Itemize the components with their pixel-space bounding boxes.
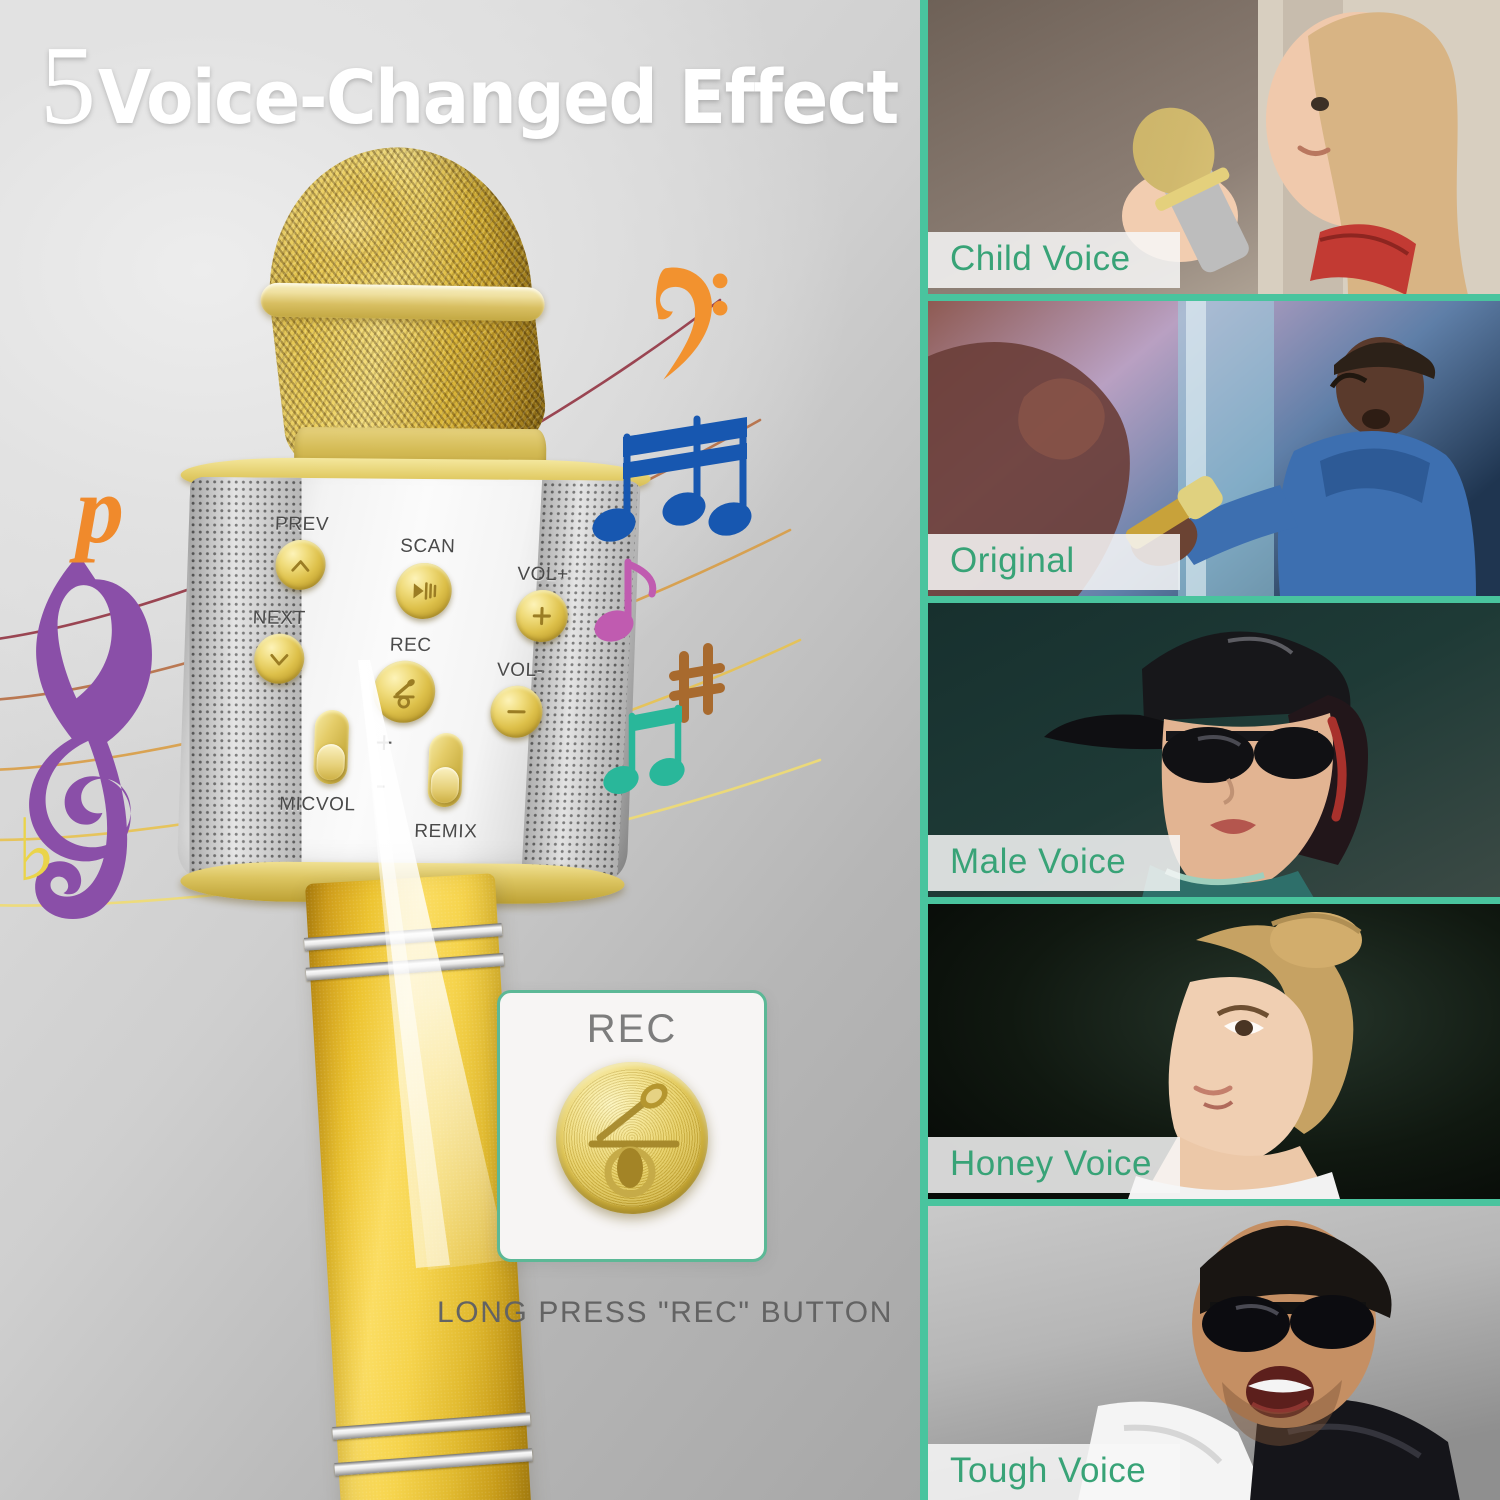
volume-down-button[interactable]	[490, 686, 544, 738]
hero-panel: 5 Voice-Changed Effect p ♭	[0, 0, 920, 1500]
record-button[interactable]	[372, 661, 436, 724]
next-track-button[interactable]	[253, 633, 305, 683]
remix-slider-switch[interactable]	[427, 733, 464, 807]
record-icon	[387, 675, 422, 709]
volume-up-icon	[528, 603, 555, 629]
voice-effect-label: Tough Voice	[928, 1444, 1180, 1500]
control-label-vol-up: VOL+	[517, 564, 569, 586]
micvol-slider-switch[interactable]	[313, 710, 350, 784]
flat-icon: ♭	[16, 801, 57, 901]
scan-button[interactable]	[395, 563, 453, 619]
control-label-remix: REMIX	[414, 821, 478, 844]
voice-effect-label: Child Voice	[928, 232, 1180, 288]
voice-effect-cell[interactable]: Male Voice	[928, 603, 1500, 897]
volume-up-button[interactable]	[515, 590, 569, 642]
voice-effect-label: Male Voice	[928, 835, 1180, 891]
body-shell: PREV SCAN	[177, 477, 641, 881]
rec-callout-box: REC	[497, 990, 767, 1262]
control-label-next: NEXT	[252, 607, 306, 629]
micvol-minus-symbol: -	[375, 771, 386, 801]
piano-dynamic-icon: p	[69, 456, 124, 563]
voice-effects-strip: Child Voice	[920, 0, 1500, 1500]
rec-coin-icon	[556, 1062, 708, 1214]
rec-button-closeup	[556, 1062, 708, 1214]
control-label-scan: SCAN	[400, 536, 456, 558]
callout-caption: LONG PRESS "REC" BUTTON	[415, 1296, 915, 1330]
micvol-plus-symbol: +	[375, 729, 394, 759]
voice-effect-cell[interactable]: Original	[928, 301, 1500, 595]
product-infographic: 5 Voice-Changed Effect p ♭	[0, 0, 1500, 1500]
control-label-vol-down: VOL-	[497, 660, 545, 682]
voice-effect-cell[interactable]: Child Voice	[928, 0, 1500, 294]
next-track-icon	[266, 646, 293, 672]
microphone-control-body: PREV SCAN	[166, 469, 651, 893]
voice-effect-cell[interactable]: Honey Voice	[928, 904, 1500, 1198]
control-label-micvol: MICVOL	[279, 794, 356, 817]
scan-icon	[408, 576, 439, 606]
treble-clef-icon	[29, 554, 152, 919]
headline-text: Voice-Changed Effect	[98, 55, 898, 141]
prev-track-icon	[287, 552, 314, 578]
voice-effect-label: Honey Voice	[928, 1137, 1180, 1193]
voice-effect-label: Original	[928, 534, 1180, 590]
prev-track-button[interactable]	[275, 540, 327, 590]
microphone-product-image: PREV SCAN	[93, 100, 799, 1475]
control-panel: PREV SCAN	[177, 477, 641, 881]
headline-number: 5	[40, 38, 94, 134]
page-title: 5 Voice-Changed Effect	[40, 38, 920, 141]
voice-effect-cell[interactable]: Tough Voice	[928, 1206, 1500, 1500]
callout-title: REC	[587, 1007, 677, 1052]
control-label-rec: REC	[389, 635, 432, 657]
svg-text:p: p	[69, 456, 124, 563]
svg-text:♭: ♭	[16, 801, 57, 901]
microphone-head-band	[260, 283, 545, 322]
volume-down-icon	[503, 699, 530, 725]
control-label-prev: PREV	[275, 514, 330, 536]
